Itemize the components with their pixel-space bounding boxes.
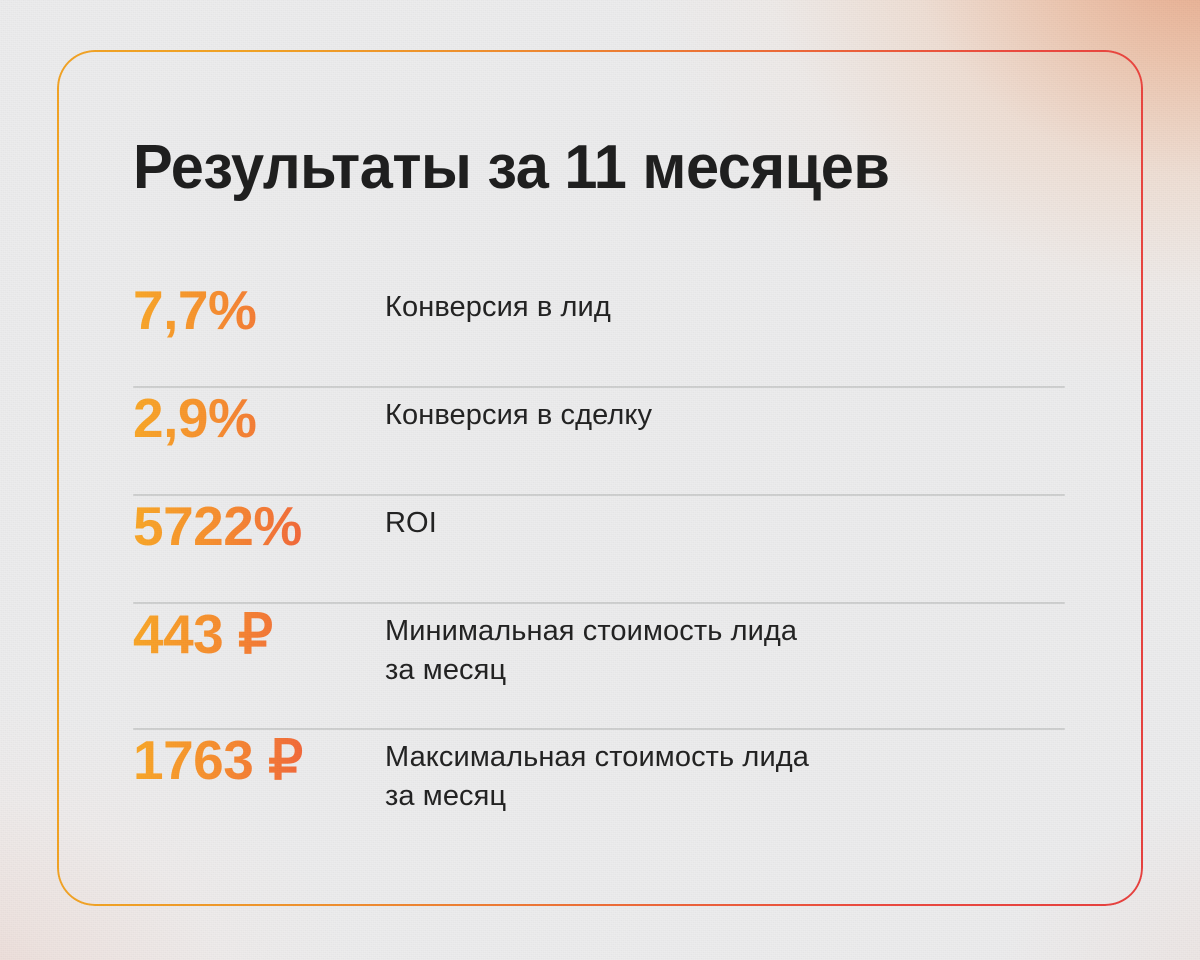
stat-label-line: ROI [385, 504, 1073, 543]
stat-value: 443 ₽ [133, 604, 385, 662]
stat-row-roi: 5722% ROI [133, 496, 1073, 602]
stat-row-min-lead-cost: 443 ₽ Минимальная стоимость лида за меся… [133, 604, 1073, 728]
stat-label-line: Минимальная стоимость лида [385, 612, 1073, 651]
stat-label: Минимальная стоимость лида за месяц [385, 604, 1073, 690]
stat-row-conversion-to-deal: 2,9% Конверсия в сделку [133, 388, 1073, 494]
stat-label: Конверсия в сделку [385, 388, 1073, 435]
stat-label: Максимальная стоимость лида за месяц [385, 730, 1073, 816]
stat-value: 5722% [133, 496, 385, 554]
stat-label-line: Конверсия в лид [385, 288, 1073, 327]
stat-row-max-lead-cost: 1763 ₽ Максимальная стоимость лида за ме… [133, 730, 1073, 854]
stats-card: Результаты за 11 месяцев 7,7% Конверсия … [57, 50, 1143, 906]
page-title: Результаты за 11 месяцев [133, 132, 890, 203]
stat-label-line: за месяц [385, 777, 1073, 816]
stat-label: Конверсия в лид [385, 280, 1073, 327]
stat-value: 1763 ₽ [133, 730, 385, 788]
stat-label-line: Конверсия в сделку [385, 396, 1073, 435]
stats-list: 7,7% Конверсия в лид 2,9% Конверсия в сд… [133, 280, 1073, 854]
stat-value: 2,9% [133, 388, 385, 446]
stat-value: 7,7% [133, 280, 385, 338]
stat-label-line: Максимальная стоимость лида [385, 738, 1073, 777]
stat-label-line: за месяц [385, 651, 1073, 690]
stat-row-conversion-to-lead: 7,7% Конверсия в лид [133, 280, 1073, 386]
stat-label: ROI [385, 496, 1073, 543]
